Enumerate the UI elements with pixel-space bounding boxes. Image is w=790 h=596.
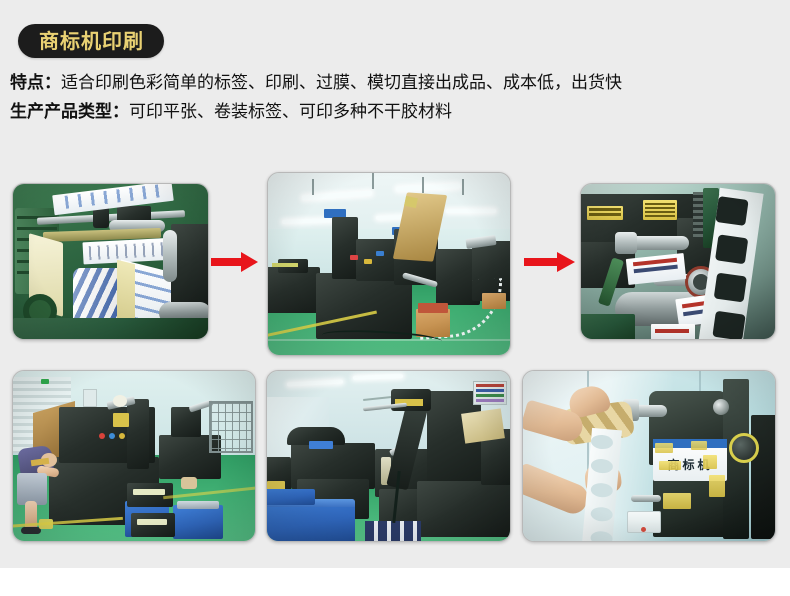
spec-line-product-types: 生产产品类型：可印平张、卷装标签、可印多种不干胶材料	[10, 101, 452, 123]
arrow-right-icon	[524, 250, 576, 274]
carton-red-top	[418, 303, 448, 313]
warning-label-1-text	[589, 208, 621, 211]
bg-machine-left	[268, 267, 320, 313]
section-title-badge: 商标机印刷	[18, 24, 164, 58]
warning-label-2-text	[645, 203, 675, 205]
rear-feeder-board	[461, 408, 505, 443]
photo-scene-machine-row	[267, 371, 510, 541]
gallery-photo-press-closeup[interactable]	[12, 183, 209, 340]
photo-scene-operator-at-machine	[13, 371, 255, 541]
carton-front	[416, 309, 450, 337]
machine-knob-yellow	[729, 433, 759, 463]
section-title-text: 商标机印刷	[39, 31, 144, 51]
arrow-right-icon	[211, 250, 259, 274]
crate-2-contents	[177, 501, 219, 509]
diecut-spring	[693, 192, 703, 238]
bg-machine-left-tag	[272, 263, 298, 267]
content-canvas: 商标机印刷 特点：适合印刷色彩简单的标签、印刷、过膜、模切直接出成品、成本低，出…	[0, 0, 790, 568]
photo-scene-factory-floor	[268, 173, 510, 355]
machine-bolt-1	[713, 399, 729, 415]
operator-shoe	[21, 527, 41, 534]
operator-machine-tower	[127, 399, 149, 469]
photo-scene-diecut-closeup	[581, 184, 775, 339]
gallery-photo-factory-floor[interactable]	[267, 172, 511, 356]
ceiling-hangers	[312, 179, 314, 195]
tape-piece-5	[709, 475, 725, 497]
control-display	[133, 489, 165, 495]
spec-value-features: 适合印刷色彩简单的标签、印刷、过膜、模切直接出成品、成本低，出货快	[61, 73, 622, 93]
spec-value-product-types: 可印平张、卷装标签、可印多种不干胶材料	[129, 102, 452, 122]
tape-piece-1	[655, 443, 673, 453]
diecut-shaft	[629, 236, 689, 250]
spec-label-features: 特点：	[10, 73, 61, 93]
label-sheet-3-print	[655, 329, 689, 333]
product-detail-page: 商标机印刷 特点：适合印刷色彩简单的标签、印刷、过膜、模切直接出成品、成本低，出…	[0, 0, 790, 596]
press-base	[13, 318, 208, 339]
machine-yellow-panel	[113, 413, 129, 427]
machine-far-right	[751, 415, 775, 539]
spec-line-features: 特点：适合印刷色彩简单的标签、印刷、过膜、模切直接出成品、成本低，出货快	[10, 72, 622, 94]
diecut-bottom-left	[581, 314, 635, 339]
press-indicator-lights	[350, 255, 358, 260]
diecut-shaft-collar	[615, 232, 637, 254]
gallery-photo-diecut-closeup[interactable]	[580, 183, 776, 340]
control-cabinet-2	[131, 513, 175, 537]
control-display-2	[137, 519, 167, 525]
wall-notice-rows	[476, 384, 504, 387]
process-arrow-2	[524, 245, 576, 279]
wall-box	[83, 389, 97, 407]
gallery-photo-operator-at-machine[interactable]	[12, 370, 256, 542]
gallery-photo-machine-row[interactable]	[266, 370, 511, 542]
machine-control-lights	[99, 433, 105, 439]
machine-roll-white	[113, 395, 127, 407]
tape-piece-2	[691, 441, 707, 450]
left-machine-badge	[309, 441, 333, 449]
process-arrow-1	[211, 245, 259, 279]
socket-indicator	[641, 527, 646, 532]
main-press-column	[332, 217, 358, 279]
wire-rack	[209, 401, 253, 453]
feeder-board-tag	[404, 196, 418, 208]
label-ladder-holes	[715, 196, 748, 226]
ceiling-tube-5	[446, 209, 496, 213]
crate-2	[173, 505, 223, 539]
crate-small	[267, 489, 315, 505]
tape-roll	[181, 477, 197, 489]
photo-scene-press-closeup	[13, 184, 208, 339]
tape-piece-6	[663, 493, 691, 509]
right-machine-base	[417, 481, 510, 537]
tape-piece-3	[659, 461, 681, 470]
wall-handle	[631, 495, 661, 502]
bg-machine-top	[171, 407, 201, 437]
gallery-photo-hands-loading-roll[interactable]: 商标机	[522, 370, 776, 542]
photo-scene-hands-loading-roll: 商标机	[523, 371, 775, 541]
press-right-shaft	[163, 230, 177, 282]
spec-label-product-types: 生产产品类型：	[10, 102, 129, 122]
carton-right	[482, 293, 506, 309]
stacked-products	[365, 521, 421, 541]
tape-piece-4	[703, 455, 717, 469]
exit-sign	[41, 379, 49, 384]
